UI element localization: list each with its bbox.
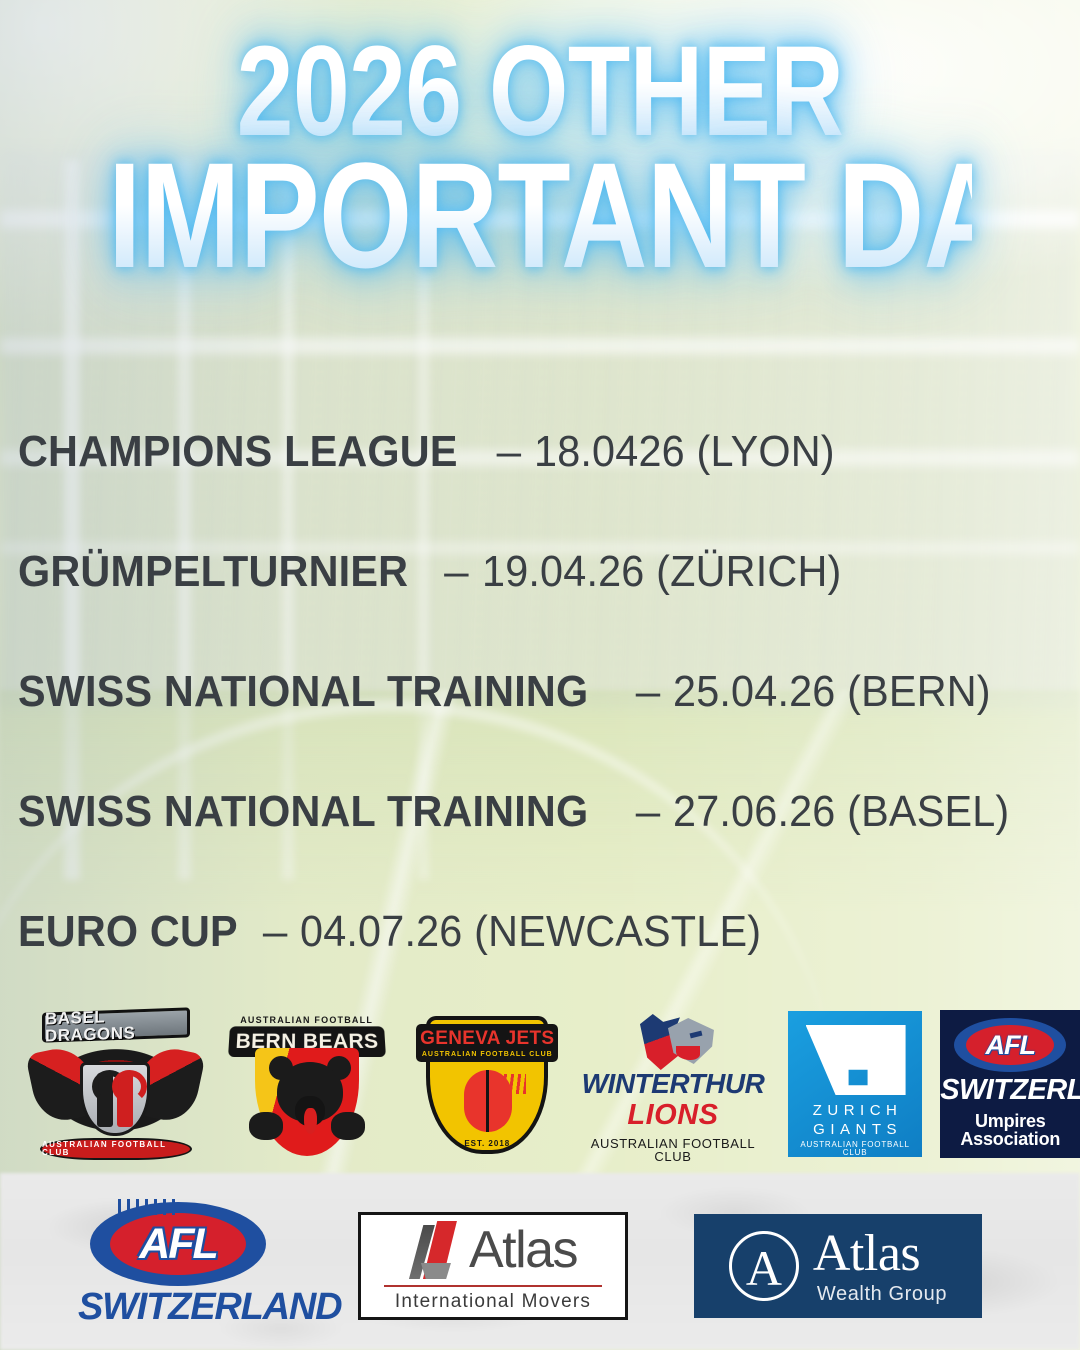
title-line-1: 2026 OTHER xyxy=(108,38,972,146)
event-name: SWISS NATIONAL TRAINING xyxy=(18,790,588,834)
jet-speedlines-icon xyxy=(490,1074,526,1094)
atlas-wealth-text: Atlas Wealth Group xyxy=(813,1228,947,1304)
event-date-location: 27.06.26 (BASEL) xyxy=(673,790,1009,834)
atlas-wealth-monogram-letter: A xyxy=(746,1243,782,1293)
event-row-gruempelturnier: GRÜMPELTURNIER – 19.04.26 (ZÜRICH) xyxy=(0,512,1080,632)
lion-head-icon xyxy=(640,1006,714,1072)
event-row-champions-league: CHAMPIONS LEAGUE – 18.0426 (LYON) xyxy=(0,392,1080,512)
winterthur-tagline: AUSTRALIAN FOOTBALL CLUB xyxy=(578,1137,768,1163)
title-line-2: IMPORTANT DATES xyxy=(108,152,972,278)
atlas-international-tagline: International Movers xyxy=(395,1292,591,1311)
event-separator: – xyxy=(252,907,298,957)
atlas-wealth-tagline: Wealth Group xyxy=(817,1284,947,1304)
geneva-name-band: GENEVA JETS AUSTRALIAN FOOTBALL CLUB xyxy=(416,1024,558,1062)
atlas-wealth-group-logo: A Atlas Wealth Group xyxy=(694,1214,982,1318)
event-separator: – xyxy=(625,787,671,837)
bear-paw-right-icon xyxy=(331,1112,365,1140)
poster-canvas: 2026 OTHER IMPORTANT DATES CHAMPIONS LEA… xyxy=(0,0,1080,1350)
event-row-swiss-national-training-bern: SWISS NATIONAL TRAINING – 25.04.26 (BERN… xyxy=(0,632,1080,752)
bear-paw-left-icon xyxy=(249,1112,283,1140)
event-name: GRÜMPELTURNIER xyxy=(18,550,408,594)
umpires-country-name: SWITZERLAND xyxy=(940,1076,1080,1105)
atlas-wealth-wordmark: Atlas xyxy=(813,1228,920,1280)
winterthur-name-line-2: LIONS xyxy=(578,1101,768,1130)
afl-oval-icon: AFL xyxy=(90,1202,266,1286)
event-name: SWISS NATIONAL TRAINING xyxy=(18,670,588,714)
geneva-club-tagline: AUSTRALIAN FOOTBALL CLUB xyxy=(422,1051,553,1058)
event-date-location: 18.0426 (LYON) xyxy=(534,430,835,474)
atlas-logo-top: Atlas xyxy=(409,1221,577,1279)
event-separator: – xyxy=(486,427,532,477)
afl-wordmark: AFL xyxy=(986,1032,1035,1059)
event-row-euro-cup: EURO CUP – 04.07.26 (NEWCASTLE) xyxy=(0,872,1080,992)
lion-jaw-icon xyxy=(676,1046,700,1060)
umpires-association-label: Umpires Association xyxy=(940,1112,1080,1148)
basel-crozier-black-icon xyxy=(97,1073,113,1127)
atlas-a-mark-icon xyxy=(409,1221,461,1279)
atlas-divider-rule xyxy=(384,1285,602,1287)
basel-club-tagline: AUSTRALIAN FOOTBALL CLUB xyxy=(40,1138,192,1160)
event-date-list: CHAMPIONS LEAGUE – 18.0426 (LYON) GRÜMPE… xyxy=(0,392,1080,992)
afl-switzerland-name: SWITZERLAND xyxy=(78,1288,278,1326)
geneva-jets-logo: GENEVA JETS AUSTRALIAN FOOTBALL CLUB EST… xyxy=(412,1004,562,1164)
basel-crozier-red-icon xyxy=(117,1073,133,1127)
zurich-name-line-2: GIANTS xyxy=(788,1122,923,1137)
sponsor-logo-row: AFL SWITZERLAND Atlas International Move… xyxy=(0,1186,1080,1346)
winterthur-name-line-1: WINTERTHUR xyxy=(578,1070,768,1098)
atlas-mark-crossbar-icon xyxy=(421,1263,451,1279)
event-name: EURO CUP xyxy=(18,910,238,954)
bear-tongue-icon xyxy=(304,1108,317,1134)
basel-dragons-logo: BASEL DRAGONS AUSTRALIAN FOOTBALL CLUB xyxy=(28,1004,203,1164)
event-separator: – xyxy=(433,547,479,597)
event-separator: – xyxy=(625,667,671,717)
page-title: 2026 OTHER IMPORTANT DATES xyxy=(0,38,1080,278)
event-date-location: 04.07.26 (NEWCASTLE) xyxy=(300,910,761,954)
atlas-international-movers-logo: Atlas International Movers xyxy=(358,1212,628,1320)
football-seam-icon xyxy=(486,1070,489,1132)
afl-wordmark: AFL xyxy=(139,1223,217,1266)
event-date-location: 19.04.26 (ZÜRICH) xyxy=(482,550,841,594)
atlas-wealth-monogram-icon: A xyxy=(729,1231,799,1301)
zurich-giants-logo: ZURICH GIANTS AUSTRALIAN FOOTBALL CLUB xyxy=(788,1011,923,1157)
basel-club-name: BASEL DRAGONS xyxy=(42,1007,190,1042)
club-logo-row: BASEL DRAGONS AUSTRALIAN FOOTBALL CLUB A… xyxy=(0,1000,1080,1168)
event-row-swiss-national-training-basel: SWISS NATIONAL TRAINING – 27.06.26 (BASE… xyxy=(0,752,1080,872)
geneva-established: EST. 2018 xyxy=(454,1140,520,1148)
bern-bears-logo: AUSTRALIAN FOOTBALL CLUB BERN BEARS xyxy=(221,1004,391,1164)
atlas-wordmark: Atlas xyxy=(469,1224,577,1276)
zurich-name-line-1: ZURICH xyxy=(788,1103,923,1118)
afl-switzerland-logo: AFL SWITZERLAND xyxy=(78,1196,278,1336)
geneva-club-name: GENEVA JETS xyxy=(420,1029,554,1048)
afl-oval-icon: AFL xyxy=(954,1018,1066,1072)
event-name: CHAMPIONS LEAGUE xyxy=(18,430,458,474)
afl-switzerland-umpires-logo: AFL SWITZERLAND Umpires Association xyxy=(940,1010,1080,1158)
winterthur-lions-logo: WINTERTHUR LIONS AUSTRALIAN FOOTBALL CLU… xyxy=(578,1004,768,1164)
zurich-tagline: AUSTRALIAN FOOTBALL CLUB xyxy=(788,1141,923,1157)
event-date-location: 25.04.26 (BERN) xyxy=(673,670,991,714)
